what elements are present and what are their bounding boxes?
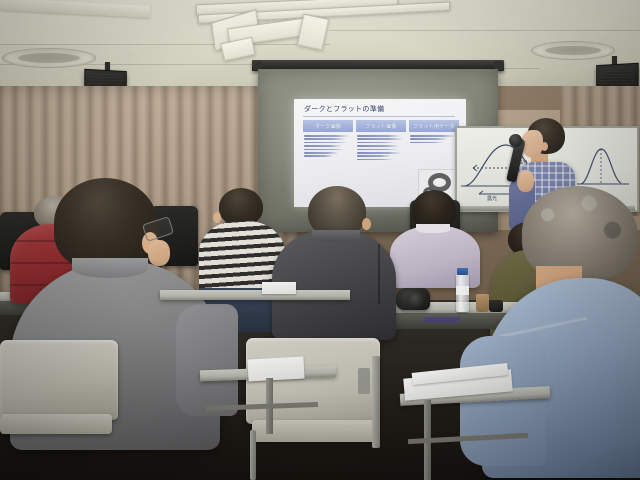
- ceiling-panel-line: [330, 30, 640, 31]
- attendee-hair: [54, 178, 158, 270]
- suit-collar: [312, 230, 360, 242]
- face-cheek: [148, 240, 170, 266]
- desk-object-brown: [476, 294, 489, 312]
- chair-bracket: [358, 368, 370, 394]
- seminar-room-photo: ダークとフラットの準備 ダーク画像 フラット画像: [0, 0, 640, 480]
- ceiling-vent: [2, 48, 96, 68]
- slide-column-header: フラット画像: [356, 120, 406, 132]
- slide-column-header: ダーク画像: [303, 120, 353, 132]
- slide-columns: ダーク画像 フラット画像 フラット用デー: [303, 120, 459, 162]
- slide-column-body: [409, 132, 459, 143]
- slide-column-header: フラット用データ: [409, 120, 459, 132]
- presenter-ear: [541, 142, 548, 151]
- attendee-collar: [416, 224, 450, 233]
- slide-title: ダークとフラットの準備: [304, 105, 460, 114]
- chair-foreground-left: [0, 340, 118, 420]
- chair-seat-left: [0, 414, 112, 434]
- slide-column-flat-data: フラット用データ: [409, 120, 459, 162]
- sweater-sleeve: [176, 304, 238, 416]
- slide-column-body: [303, 132, 353, 157]
- attendee-ear: [213, 212, 221, 223]
- suit-shoulder-seam: [378, 244, 380, 304]
- handout-papers: [262, 282, 296, 294]
- presenter-hand: [517, 170, 534, 192]
- slide-column-dark: ダーク画像: [303, 120, 353, 162]
- camera-lens: [408, 292, 425, 309]
- handout-papers: [247, 357, 304, 382]
- desk-label-strip: [424, 317, 460, 323]
- desk-mid-left: [160, 290, 350, 300]
- slide-column-body: [356, 132, 406, 160]
- ceiling-panel-line: [0, 44, 330, 45]
- bottle-label: [456, 286, 469, 295]
- chair-frame: [250, 430, 256, 480]
- slide-title-underline: [303, 116, 455, 117]
- bottle-cap: [457, 268, 468, 275]
- desk-object-dark: [489, 300, 503, 312]
- svg-text:露光: 露光: [487, 195, 497, 202]
- sweater-collar: [72, 258, 148, 278]
- ceiling-vent: [531, 41, 615, 60]
- slide-column-flat: フラット画像: [356, 120, 406, 162]
- chair-frame: [372, 356, 380, 448]
- attendee-ear: [362, 218, 371, 230]
